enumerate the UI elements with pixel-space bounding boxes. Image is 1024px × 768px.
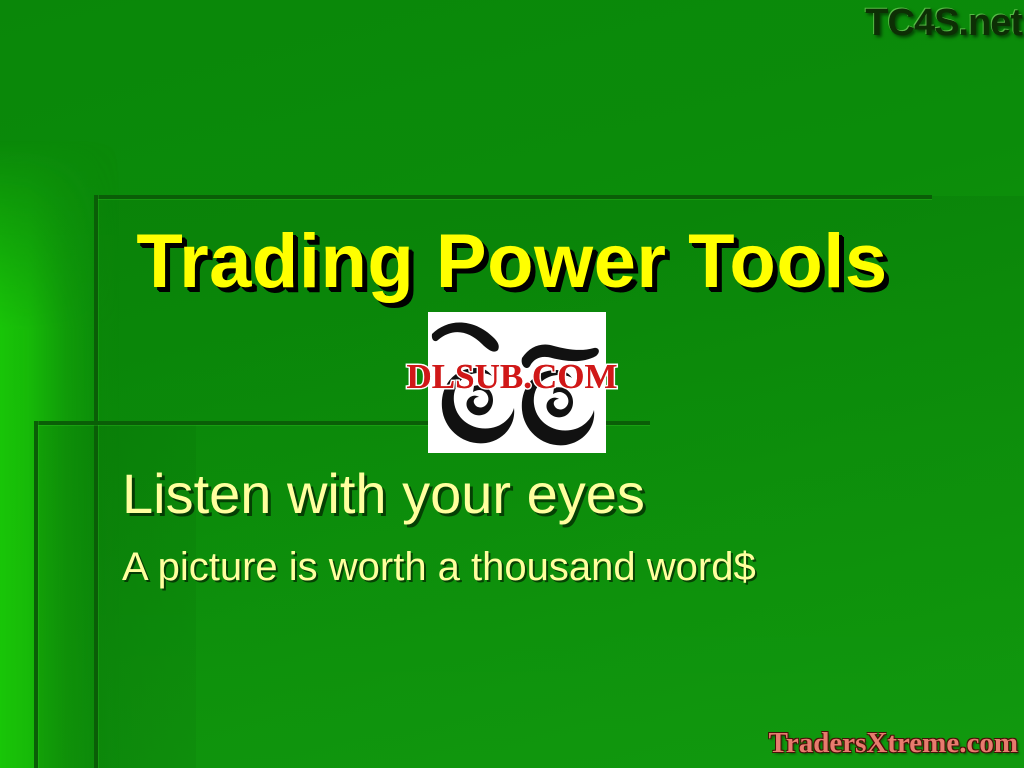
slide-tagline: A picture is worth a thousand word$ bbox=[122, 545, 756, 590]
slide-title: Trading Power Tools bbox=[0, 218, 1024, 305]
watermark-dlsub-fill: DLSUB.COM bbox=[0, 357, 1024, 397]
divider-line-top bbox=[96, 195, 932, 199]
watermark-dlsub: DLSUB.COM DLSUB.COM bbox=[0, 357, 1024, 397]
watermark-tc4s: TC4S.net bbox=[865, 2, 1022, 45]
presentation-slide: Trading Power Tools DLSUB.COM DLSUB.COM … bbox=[0, 0, 1024, 768]
watermark-tradersxtreme: TradersXtreme.com bbox=[769, 727, 1018, 760]
divider-line-vertical-left bbox=[34, 421, 38, 768]
slide-subtitle: Listen with your eyes bbox=[122, 461, 645, 526]
